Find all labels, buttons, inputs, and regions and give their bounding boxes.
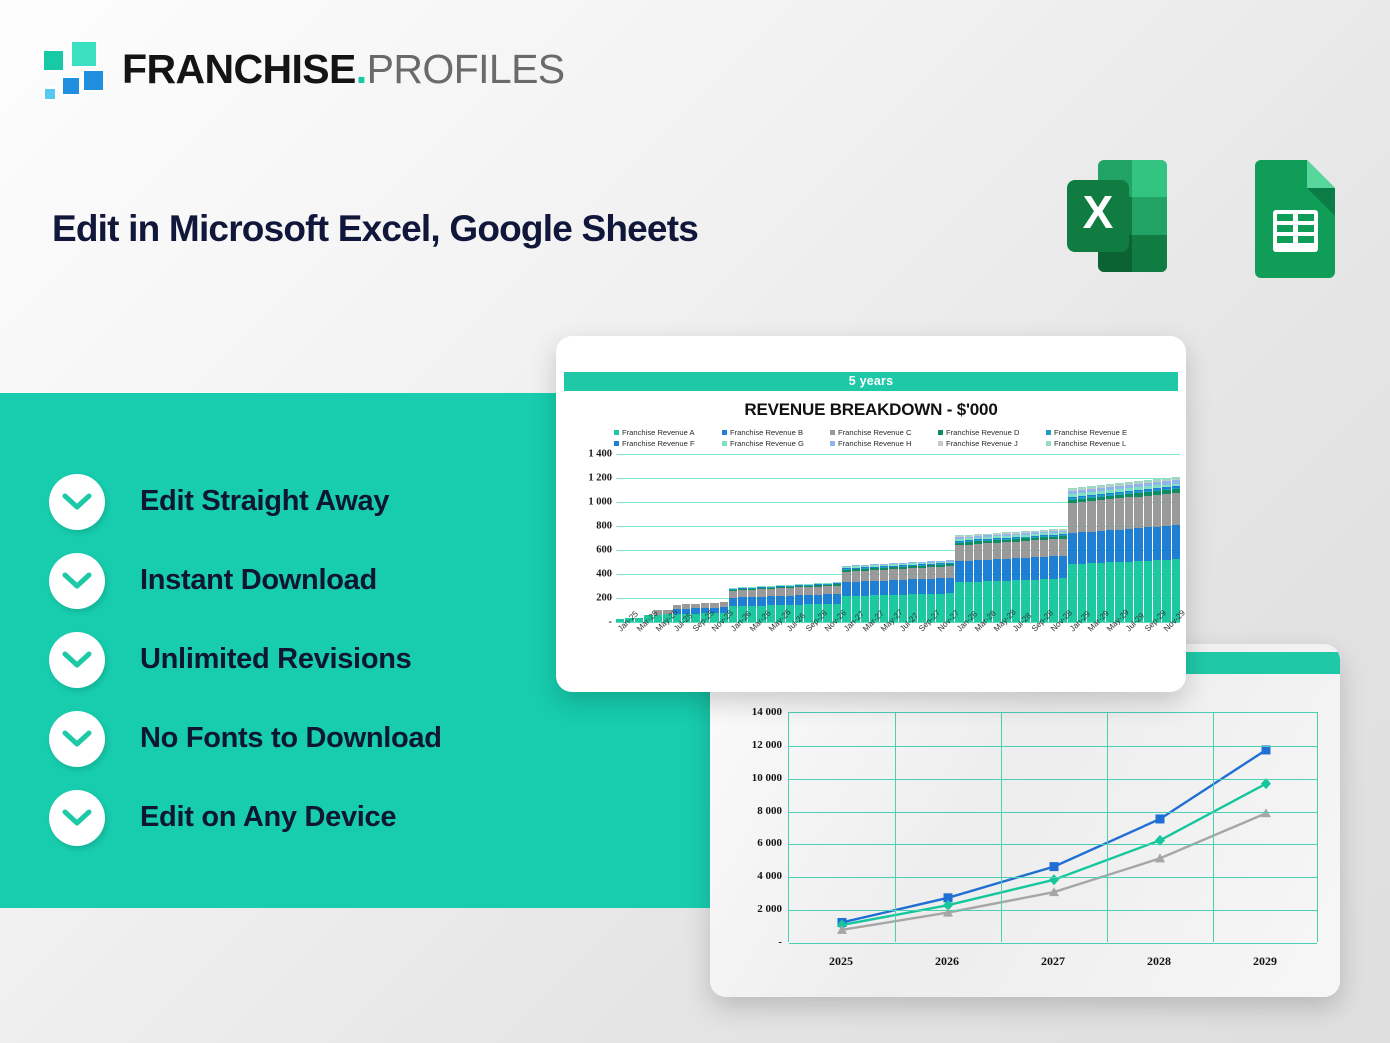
y-axis-tick: 600: [596, 545, 612, 556]
gridline: [789, 779, 1317, 780]
bar-segment: [1002, 542, 1010, 558]
bar-segment: [983, 543, 991, 559]
legend-item: Franchise Revenue A: [614, 427, 722, 438]
bar-segment: [795, 587, 803, 595]
bar-segment: [974, 560, 982, 582]
bar-column: [1134, 481, 1142, 622]
x-axis-tick: [832, 623, 841, 680]
x-axis-tick: Jul-27: [898, 623, 907, 680]
y-axis-tick: 1 400: [588, 449, 612, 460]
chevron-down-icon: [49, 790, 105, 846]
bar-segment: [1078, 532, 1086, 563]
x-axis-tick: [625, 623, 634, 680]
legend-swatch: [722, 441, 727, 446]
bar-segment: [1031, 540, 1039, 557]
x-axis-tick: [1152, 623, 1161, 680]
logo-word-bold: FRANCHISE: [122, 46, 356, 92]
bar-segment: [1097, 531, 1105, 563]
bar-segment: [842, 572, 850, 582]
bar-segment: [1153, 527, 1161, 560]
bar-segment: [748, 590, 756, 597]
x-axis-tick: May-25: [654, 623, 663, 680]
bar-segment: [1106, 499, 1114, 530]
bar-column: [1115, 483, 1123, 622]
x-axis-tick: Jul-25: [672, 623, 681, 680]
bar-segment: [852, 582, 860, 596]
y-axis-tick: 10 000: [752, 772, 782, 784]
bar-segment: [1021, 558, 1029, 580]
bar-segment: [757, 597, 765, 606]
bar-segment: [786, 588, 794, 596]
x-axis-tick-label: 2026: [894, 954, 1000, 969]
bar-segment: [1059, 539, 1067, 556]
bar-segment: [1162, 494, 1170, 526]
bar-segment: [1172, 525, 1180, 559]
brand-logo: FRANCHISE.PROFILES: [42, 40, 565, 98]
bar-segment: [776, 596, 784, 605]
google-sheets-icon: [1245, 152, 1345, 280]
bar-column: [1153, 479, 1161, 622]
x-axis-tick: [945, 623, 954, 680]
bar-segment: [908, 579, 916, 594]
bar-segment: [1162, 526, 1170, 560]
bar-column: [955, 535, 963, 622]
gridline: [789, 877, 1317, 878]
line-chart-y-axis: -2 0004 0006 0008 00010 00012 00014 000: [716, 702, 782, 942]
x-axis-tick: [851, 623, 860, 680]
legend-item: Franchise Revenue G: [722, 438, 830, 449]
y-axis-tick: 1 000: [588, 497, 612, 508]
bar-segment: [974, 544, 982, 560]
bar-segment: [1153, 495, 1161, 527]
bar-segment: [1144, 496, 1152, 528]
bar-segment: [946, 578, 954, 593]
legend-swatch: [614, 430, 619, 435]
feature-label: Edit on Any Device: [140, 801, 396, 834]
bar-chart-y-axis: -2004006008001 0001 2001 400: [564, 421, 612, 625]
line-chart-card: ber 2029 oss Margin -2 0004 0006 0008 00…: [710, 644, 1340, 997]
bar-segment: [889, 569, 897, 580]
bar-segment: [1172, 493, 1180, 526]
x-axis-tick: [814, 623, 823, 680]
x-axis-tick: Nov-28: [1049, 623, 1058, 680]
gridline: [789, 943, 1317, 944]
bar-segment: [748, 597, 756, 606]
bar-column: [1172, 477, 1180, 622]
bar-segment: [795, 595, 803, 604]
bar-column: [1031, 531, 1039, 622]
bar-chart-card: 5 years REVENUE BREAKDOWN - $'000 Franch…: [556, 336, 1186, 692]
chevron-down-icon: [49, 553, 105, 609]
legend-item: Franchise Revenue E: [1046, 427, 1154, 438]
bar-column: [1087, 486, 1095, 622]
bar-segment: [861, 581, 869, 595]
bar-segment: [993, 543, 1001, 559]
bar-segment: [983, 560, 991, 582]
x-axis-tick: Sep-29: [1143, 623, 1152, 680]
bar-chart-series: [616, 454, 1180, 622]
bar-segment: [936, 567, 944, 579]
y-axis-tick: 1 200: [588, 473, 612, 484]
x-axis-tick: [738, 623, 747, 680]
bar-segment: [823, 586, 831, 594]
chevron-down-icon: [49, 711, 105, 767]
legend-item: Franchise Revenue F: [614, 438, 722, 449]
chevron-down-icon: [49, 474, 105, 530]
x-axis-tick: [908, 623, 917, 680]
bar-column: [974, 534, 982, 622]
bar-segment: [729, 598, 737, 607]
bar-segment: [1115, 530, 1123, 562]
gridline: [789, 844, 1317, 845]
microsoft-excel-icon: X: [1067, 152, 1167, 280]
logo-word-light: PROFILES: [367, 46, 565, 92]
bar-column: [918, 562, 926, 622]
legend-label: Franchise Revenue B: [730, 427, 803, 438]
bar-segment: [861, 571, 869, 582]
x-axis-tick: [1133, 623, 1142, 680]
feature-label: Unlimited Revisions: [140, 643, 411, 676]
x-axis-tick: May-27: [879, 623, 888, 680]
legend-swatch: [938, 441, 943, 446]
bar-segment: [927, 567, 935, 578]
x-axis-tick: Mar-27: [861, 623, 870, 680]
bar-segment: [1068, 533, 1076, 564]
y-axis-tick: -: [778, 936, 782, 948]
bar-segment: [1049, 556, 1057, 579]
bar-segment: [899, 569, 907, 580]
page-headline: Edit in Microsoft Excel, Google Sheets: [52, 208, 698, 250]
x-axis-tick: [1058, 623, 1067, 680]
x-axis-tick: [644, 623, 653, 680]
x-axis-tick: [1039, 623, 1048, 680]
bar-segment: [1097, 500, 1105, 531]
bar-segment: [804, 595, 812, 605]
legend-label: Franchise Revenue C: [838, 427, 911, 438]
x-axis-tick: [964, 623, 973, 680]
x-axis-tick-label: 2025: [788, 954, 894, 969]
bar-segment: [870, 581, 878, 596]
logo-square-4: [61, 76, 81, 96]
logo-square-5: [43, 87, 57, 101]
bar-segment: [880, 581, 888, 596]
legend-swatch: [938, 430, 943, 435]
x-axis-tick: [757, 623, 766, 680]
x-axis-tick: [1077, 623, 1086, 680]
bar-segment: [804, 587, 812, 595]
bar-segment: [738, 590, 746, 597]
bar-segment: [1002, 559, 1010, 581]
x-axis-tick: Sep-28: [1030, 623, 1039, 680]
bar-segment: [1144, 527, 1152, 560]
logo-dot: .: [356, 46, 367, 92]
x-axis-tick: Nov-27: [936, 623, 945, 680]
x-axis-tick: May-26: [767, 623, 776, 680]
logo-mark-squares: [42, 40, 106, 98]
x-axis-tick: [719, 623, 728, 680]
bar-segment: [1087, 532, 1095, 564]
bar-column: [1162, 478, 1170, 622]
logo-square-3: [82, 69, 105, 92]
y-axis-tick: 400: [596, 569, 612, 580]
line-chart-grid: [788, 712, 1318, 942]
legend-item: Franchise Revenue D: [938, 427, 1046, 438]
x-axis-tick: Mar-26: [748, 623, 757, 680]
bar-segment: [1144, 561, 1152, 622]
y-axis-tick: 800: [596, 521, 612, 532]
y-axis-tick: 6 000: [757, 837, 782, 849]
bar-segment: [738, 597, 746, 606]
legend-label: Franchise Revenue F: [622, 438, 695, 449]
bar-segment: [852, 571, 860, 581]
x-axis-tick: [701, 623, 710, 680]
legend-label: Franchise Revenue D: [946, 427, 1019, 438]
x-axis-tick: Sep-27: [917, 623, 926, 680]
gridline: [789, 812, 1317, 813]
bar-chart-legend: Franchise Revenue AFranchise Revenue BFr…: [614, 427, 1154, 449]
bar-segment: [899, 580, 907, 595]
bar-segment: [965, 545, 973, 561]
bar-segment: [1012, 558, 1020, 580]
x-axis-tick-label: 2029: [1212, 954, 1318, 969]
x-axis-tick: May-29: [1105, 623, 1114, 680]
bar-segment: [786, 596, 794, 605]
legend-swatch: [614, 441, 619, 446]
line-chart-plot: -2 0004 0006 0008 00010 00012 00014 000 …: [710, 702, 1340, 992]
y-axis-tick: 200: [596, 593, 612, 604]
bar-segment: [1049, 539, 1057, 556]
x-axis-tick: [663, 623, 672, 680]
bar-segment: [1040, 540, 1048, 557]
x-axis-tick: Jan-27: [842, 623, 851, 680]
bar-segment: [880, 570, 888, 581]
x-axis-tick: Jul-28: [1011, 623, 1020, 680]
svg-text:X: X: [1083, 186, 1114, 238]
x-axis-tick: Mar-29: [1086, 623, 1095, 680]
bar-segment: [889, 580, 897, 595]
legend-swatch: [1046, 430, 1051, 435]
x-axis-tick: Jul-26: [785, 623, 794, 680]
bar-segment: [776, 588, 784, 596]
bar-segment: [833, 586, 841, 594]
feature-label: Edit Straight Away: [140, 485, 389, 518]
logo-square-2: [70, 40, 98, 68]
bar-segment: [1068, 503, 1076, 533]
y-axis-tick: 14 000: [752, 706, 782, 718]
x-axis-tick: Jan-26: [729, 623, 738, 680]
bar-segment: [823, 594, 831, 604]
legend-label: Franchise Revenue H: [838, 438, 911, 449]
legend-item: Franchise Revenue J: [938, 438, 1046, 449]
bar-segment: [1125, 529, 1133, 562]
line-chart-series: [789, 713, 1319, 943]
bar-column: [1106, 484, 1114, 622]
bar-column: [1097, 485, 1105, 622]
x-axis-tick: Jul-29: [1124, 623, 1133, 680]
bar-column: [1068, 488, 1076, 622]
bar-segment: [767, 589, 775, 596]
bar-segment: [1115, 498, 1123, 529]
legend-label: Franchise Revenue L: [1054, 438, 1126, 449]
bar-column: [1021, 531, 1029, 622]
bar-segment: [1087, 501, 1095, 531]
bar-card-tab-label: 5 years: [564, 372, 1178, 391]
bar-column: [1049, 529, 1057, 622]
x-axis-tick: Sep-26: [804, 623, 813, 680]
x-axis-tick: [1115, 623, 1124, 680]
legend-item: Franchise Revenue H: [830, 438, 938, 449]
chevron-down-icon: [49, 632, 105, 688]
legend-swatch: [830, 430, 835, 435]
x-axis-tick: Nov-26: [823, 623, 832, 680]
bar-segment: [1059, 556, 1067, 579]
bar-segment: [993, 559, 1001, 581]
x-axis-tick: [889, 623, 898, 680]
bar-column: [1059, 529, 1067, 622]
x-axis-tick: [1171, 623, 1180, 680]
bar-segment: [1040, 557, 1048, 579]
legend-label: Franchise Revenue E: [1054, 427, 1127, 438]
legend-item: Franchise Revenue B: [722, 427, 830, 438]
bar-segment: [1031, 557, 1039, 579]
x-axis-tick: Mar-28: [973, 623, 982, 680]
gridline: [789, 910, 1317, 911]
bar-segment: [927, 579, 935, 594]
gridline: [1213, 713, 1214, 942]
feature-label: No Fonts to Download: [140, 722, 442, 755]
bar-segment: [946, 566, 954, 578]
legend-item: Franchise Revenue L: [1046, 438, 1154, 449]
bar-column: [1078, 487, 1086, 622]
legend-label: Franchise Revenue A: [622, 427, 695, 438]
bar-segment: [965, 561, 973, 582]
x-axis-tick: [926, 623, 935, 680]
x-axis-tick: [776, 623, 785, 680]
bar-segment: [918, 568, 926, 579]
feature-label: Instant Download: [140, 564, 377, 597]
gridline: [789, 746, 1317, 747]
bar-chart-plot: -2004006008001 0001 2001 400: [556, 454, 1186, 622]
gridline: [895, 713, 896, 942]
logo-wordmark: FRANCHISE.PROFILES: [122, 49, 565, 90]
y-axis-tick: 2 000: [757, 903, 782, 915]
x-axis-tick-label: 2028: [1106, 954, 1212, 969]
bar-segment: [757, 589, 765, 596]
gridline: [1107, 713, 1108, 942]
logo-square-1: [42, 49, 65, 72]
x-axis-tick: Jan-29: [1068, 623, 1077, 680]
y-axis-tick: -: [609, 617, 613, 628]
x-axis-tick-label: 2027: [1000, 954, 1106, 969]
bar-segment: [1134, 528, 1142, 561]
bar-segment: [833, 594, 841, 604]
x-axis-tick: [1096, 623, 1105, 680]
bar-segment: [908, 568, 916, 579]
bar-segment: [1012, 542, 1020, 559]
y-axis-tick: 12 000: [752, 739, 782, 751]
bar-segment: [936, 578, 944, 593]
x-axis-tick: Jan-28: [955, 623, 964, 680]
y-axis-tick: 8 000: [757, 805, 782, 817]
x-axis-tick: Sep-25: [691, 623, 700, 680]
x-axis-tick: [1020, 623, 1029, 680]
bar-column: [1125, 482, 1133, 622]
app-icon-group: X: [1067, 152, 1345, 280]
bar-segment: [842, 582, 850, 596]
legend-label: Franchise Revenue J: [946, 438, 1018, 449]
legend-item: Franchise Revenue C: [830, 427, 938, 438]
x-axis-tick: Jan-25: [616, 623, 625, 680]
bar-segment: [1078, 502, 1086, 532]
bar-segment: [955, 545, 963, 561]
bar-chart-x-axis: Jan-25Mar-25May-25Jul-25Sep-25Nov-25Jan-…: [616, 622, 1180, 680]
legend-label: Franchise Revenue G: [730, 438, 804, 449]
line-chart-x-axis: 20252026202720282029: [788, 954, 1318, 969]
bar-segment: [814, 587, 822, 595]
bar-segment: [1125, 497, 1133, 528]
bar-segment: [1106, 530, 1114, 562]
x-axis-tick: Mar-25: [635, 623, 644, 680]
bar-segment: [955, 561, 963, 582]
list-item: No Fonts to Download: [49, 699, 669, 778]
x-axis-tick: Nov-29: [1162, 623, 1171, 680]
bar-segment: [1134, 497, 1142, 529]
bar-column: [1144, 480, 1152, 622]
x-axis-tick: [870, 623, 879, 680]
x-axis-tick: [983, 623, 992, 680]
x-axis-tick: [795, 623, 804, 680]
x-axis-tick: May-28: [992, 623, 1001, 680]
bar-segment: [814, 595, 822, 605]
bar-chart-title: REVENUE BREAKDOWN - $'000: [556, 400, 1186, 420]
x-axis-tick: [682, 623, 691, 680]
bar-column: [993, 533, 1001, 622]
bar-segment: [729, 591, 737, 598]
bar-segment: [767, 596, 775, 605]
bar-segment: [870, 570, 878, 581]
legend-swatch: [1046, 441, 1051, 446]
gridline: [1001, 713, 1002, 942]
bar-segment: [918, 579, 926, 594]
y-axis-tick: 4 000: [757, 870, 782, 882]
x-axis-tick: [1002, 623, 1011, 680]
bar-segment: [1021, 541, 1029, 558]
legend-swatch: [830, 441, 835, 446]
list-item: Edit on Any Device: [49, 778, 669, 857]
legend-swatch: [722, 430, 727, 435]
x-axis-tick: Nov-25: [710, 623, 719, 680]
